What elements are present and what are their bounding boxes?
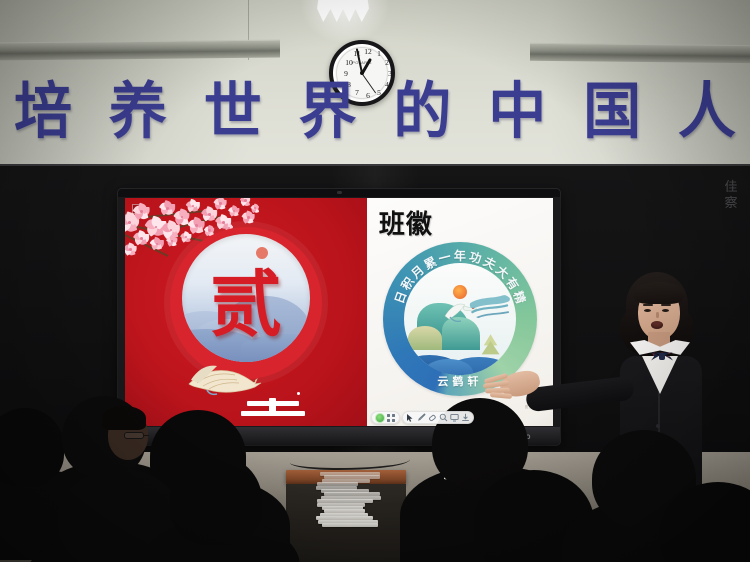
whiteboard-toolbar[interactable]: [371, 411, 474, 424]
sakura-bloom-16: [125, 244, 136, 255]
emblem-arc-char-5: 年: [454, 247, 466, 264]
crane-illustration: [183, 350, 269, 396]
clock-numeral-2: 2: [381, 58, 393, 67]
sakura-center: [129, 248, 132, 251]
pen-icon[interactable]: [417, 413, 426, 422]
seal-dot: [297, 392, 300, 395]
clock-center-pin: [360, 71, 364, 75]
sakura-center: [166, 207, 169, 210]
cursor-icon[interactable]: [406, 413, 415, 422]
sakura-center: [195, 224, 198, 227]
clock-numeral-10: 10: [343, 58, 355, 67]
sakura-bloom-5: [175, 210, 189, 224]
apps-grid-icon[interactable]: [387, 413, 396, 422]
slide-title: 班徽: [379, 204, 433, 241]
sakura-center: [140, 210, 143, 213]
sakura-bloom-7: [189, 218, 204, 233]
sakura-center: [128, 221, 131, 224]
sakura-bloom-14: [135, 232, 148, 245]
audience-student-head: [170, 455, 262, 545]
clock-numeral-3: 3: [384, 69, 396, 78]
sakura-center: [244, 199, 247, 202]
ceiling-rail-left: [0, 39, 280, 60]
emblem-cloud-swirl: [469, 292, 514, 321]
slide-seal-mark: [239, 392, 309, 422]
presenter-mouth: [651, 321, 663, 329]
emblem-pine-icon: [476, 332, 505, 357]
presenter-brow-right: [661, 304, 671, 306]
sakura-center: [247, 216, 250, 219]
magnifier-icon[interactable]: [439, 413, 448, 422]
sakura-bloom-13: [243, 212, 254, 223]
stacked-papers: [316, 472, 388, 534]
sakura-bloom-6: [187, 200, 199, 212]
clock-numeral-7: 7: [351, 88, 363, 97]
presenter-nose: [656, 312, 659, 318]
wall-shadow-left: [0, 0, 250, 180]
app-launcher-icon[interactable]: [375, 413, 385, 423]
clock-numeral-6: 6: [362, 91, 374, 100]
sakura-center: [219, 202, 222, 205]
download-icon[interactable]: [461, 413, 470, 422]
toolbar-group-left[interactable]: [371, 411, 400, 424]
sakura-bloom-3: [161, 202, 174, 215]
seal-bar-mid: [269, 398, 276, 412]
sakura-bloom-1: [134, 204, 149, 219]
eraser-icon[interactable]: [428, 413, 437, 422]
sakura-center: [140, 237, 143, 240]
sakura-bloom-21: [251, 204, 259, 212]
screen-icon[interactable]: [450, 413, 459, 422]
presenter-brow-left: [643, 304, 653, 306]
chalk-writing: 佳察: [720, 180, 742, 212]
sakura-center: [208, 213, 211, 216]
presenter-bow-knot: [659, 353, 665, 360]
display-camera: [337, 191, 342, 194]
audience-student-hair: [102, 406, 146, 430]
presenter-eye-right: [662, 309, 669, 312]
toolbar-group-tools[interactable]: [402, 411, 474, 424]
sakura-bloom-12: [241, 198, 250, 205]
seal-bar-bottom: [241, 411, 305, 416]
sakura-bloom-9: [215, 198, 226, 209]
classroom-photo-scene: POLARIS 121234567891011 培养世界的中国人 佳察: [0, 0, 750, 562]
sakura-bloom-18: [181, 232, 191, 242]
emblem-inner-scene: [404, 263, 516, 375]
slide-numeral-two: 贰: [210, 246, 282, 351]
presenter-eye-left: [644, 309, 651, 312]
sakura-bloom-8: [203, 208, 216, 221]
sakura-bloom-15: [151, 238, 163, 250]
ceiling-rail-right: [530, 43, 750, 63]
emblem-mountain-3: [408, 326, 442, 351]
slide-left-panel: 贰: [125, 198, 367, 426]
sakura-bloom-17: [167, 236, 177, 246]
presenter-button-1: [656, 424, 660, 428]
clock-numeral-9: 9: [340, 69, 352, 78]
eyeglasses-icon: [124, 432, 144, 439]
wall-shadow-right: [550, 0, 750, 180]
presenter-fringe: [634, 282, 684, 304]
clock-numeral-8: 8: [343, 80, 355, 89]
wall-clock: POLARIS 121234567891011: [329, 40, 395, 106]
sakura-center: [208, 229, 211, 232]
paper-sheet: [322, 523, 378, 527]
sakura-bloom-11: [229, 206, 239, 216]
